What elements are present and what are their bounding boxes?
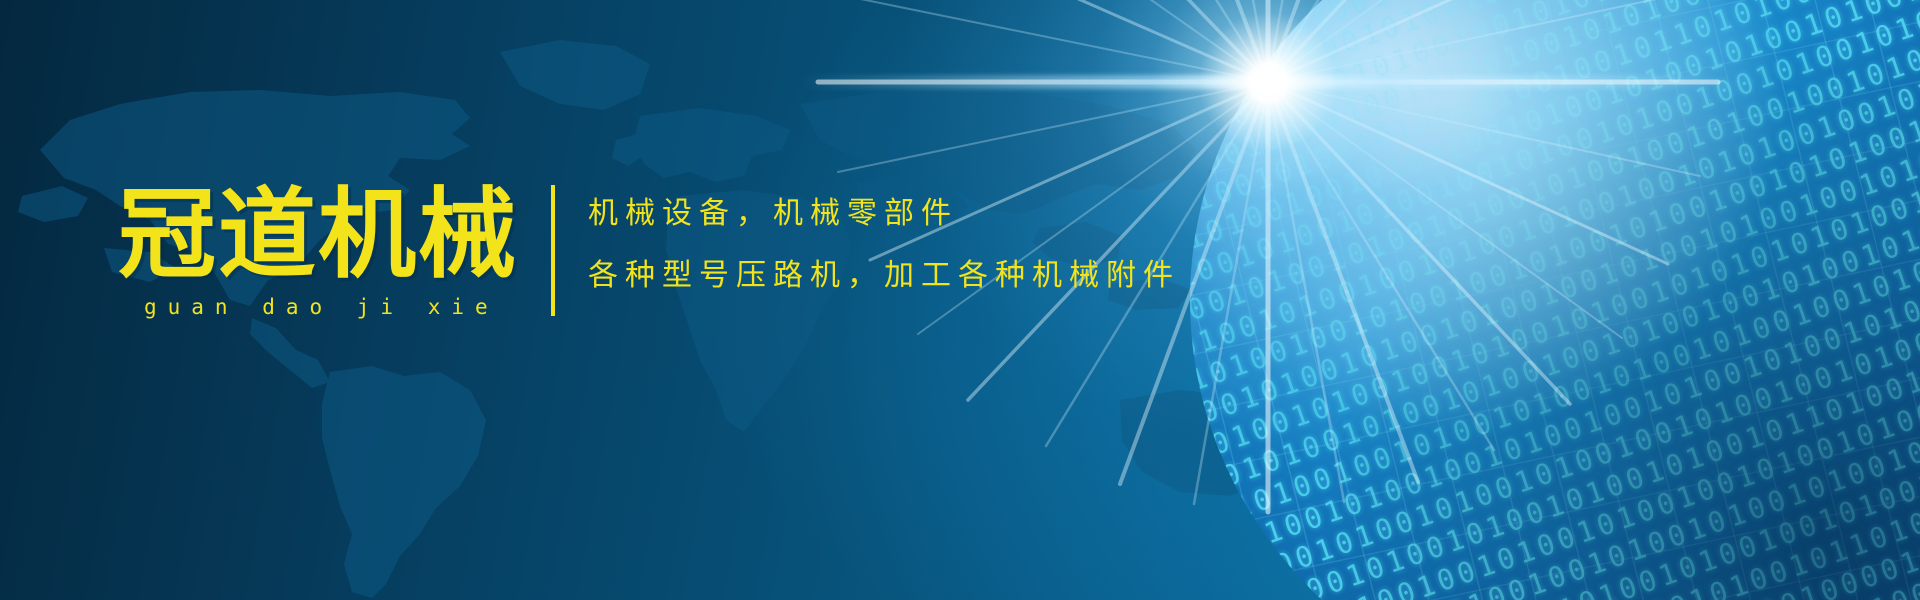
vertical-divider [551,185,555,316]
company-logo-pinyin: guan dao ji xie [118,295,518,319]
tagline-line-2: 各种型号压路机，加工各种机械附件 [588,258,1180,294]
tagline-group: 机械设备，机械零部件 各种型号压路机，加工各种机械附件 [588,196,1180,294]
company-banner: 1001001010010010100100101001001100100101… [0,0,1920,600]
banner-content: 冠道机械 guan dao ji xie 机械设备，机械零部件 各种型号压路机，… [0,0,1160,600]
company-logo-title: 冠道机械 [118,183,518,287]
logo-block: 冠道机械 guan dao ji xie [118,183,518,319]
tagline-line-1: 机械设备，机械零部件 [588,196,1180,232]
